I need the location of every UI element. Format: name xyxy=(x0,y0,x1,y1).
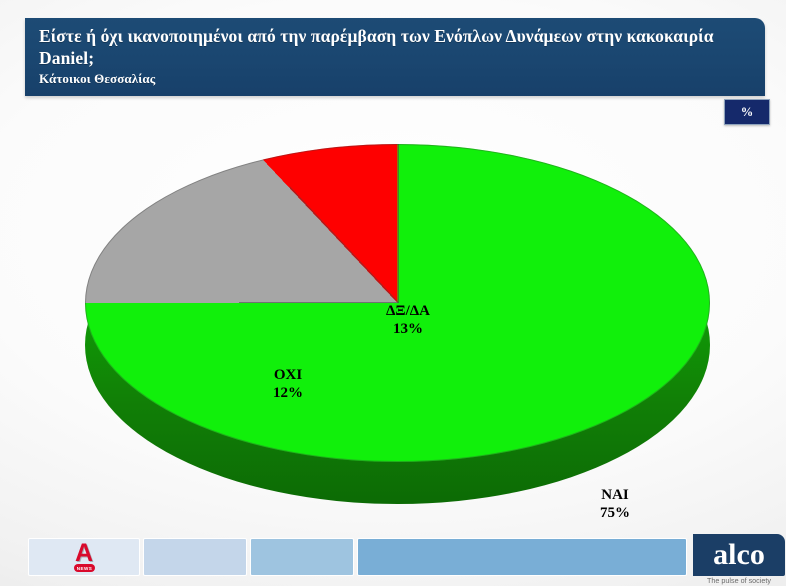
slice-divider xyxy=(239,302,398,303)
percent-unit-badge: % xyxy=(724,99,770,125)
pie-chart: ΝΑΙ 75% ΔΞ/ΔΑ 13% ΟΧΙ 12% xyxy=(0,126,786,526)
slice-label-nai-name: ΝΑΙ xyxy=(601,487,629,503)
slice-divider xyxy=(398,144,399,303)
alco-logo: alco xyxy=(693,534,785,576)
footer-segment-1 xyxy=(143,538,247,576)
slice-label-nai: ΝΑΙ 75% xyxy=(555,486,675,523)
alpha-news-logo-icon: A NEWS xyxy=(71,542,97,572)
page-title: Είστε ή όχι ικανοποιημένοι από την παρέμ… xyxy=(39,25,751,70)
alpha-news-pill: NEWS xyxy=(74,564,95,572)
slice-divider xyxy=(289,186,399,303)
alpha-letter: A xyxy=(71,542,97,566)
slice-label-nai-value: 75% xyxy=(555,504,675,522)
title-banner: Είστε ή όχι ικανοποιημένοι από την παρέμ… xyxy=(25,18,765,96)
footer-segment-3 xyxy=(357,538,687,576)
footer-segment-2 xyxy=(250,538,354,576)
slide: Είστε ή όχι ικανοποιημένοι από την παρέμ… xyxy=(0,0,786,586)
alco-tagline: The pulse of society xyxy=(693,576,785,585)
alco-wordmark: alco xyxy=(713,540,765,570)
footer-bar: A NEWS xyxy=(0,532,786,586)
footer-segment-logo: A NEWS xyxy=(28,538,140,576)
pie-chart-graphic: ΝΑΙ 75% ΔΞ/ΔΑ 13% ΟΧΙ 12% xyxy=(85,134,710,514)
pie-top-face xyxy=(85,144,710,462)
page-subtitle: Κάτοικοι Θεσσαλίας xyxy=(39,71,751,87)
